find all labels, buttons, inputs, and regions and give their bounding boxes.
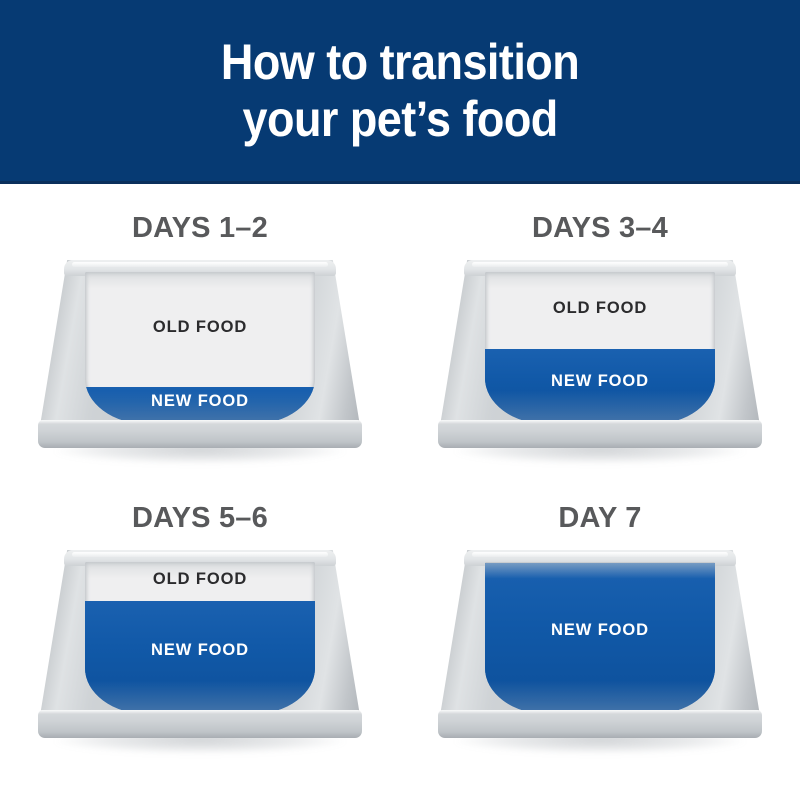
bowl-base	[438, 420, 762, 448]
header-banner: How to transition your pet’s food	[0, 0, 800, 184]
food-bowl-2: OLD FOOD NEW FOOD	[438, 260, 762, 460]
old-food-label-3: OLD FOOD	[85, 570, 315, 589]
transition-step-2: DAYS 3–4 OLD FOOD NEW FOOD	[400, 198, 800, 488]
bowl-base-highlight	[38, 420, 362, 424]
food-bowl-3: OLD FOOD NEW FOOD	[38, 550, 362, 750]
new-food-label-4: NEW FOOD	[485, 621, 715, 640]
bowl-rim-gloss	[72, 552, 328, 557]
step-title-4: DAY 7	[400, 502, 800, 535]
transition-step-4: DAY 7 NEW FOOD	[400, 488, 800, 778]
new-food-label-3: NEW FOOD	[85, 641, 315, 660]
new-food-label-1: NEW FOOD	[85, 392, 315, 411]
bowl-cavity: OLD FOOD NEW FOOD	[85, 272, 315, 424]
bowl-rim-gloss	[472, 552, 728, 557]
bowl-cavity: OLD FOOD NEW FOOD	[85, 562, 315, 714]
page-title-line-2: your pet’s food	[242, 91, 557, 148]
bowl-rim-gloss	[472, 262, 728, 267]
bowl-base	[38, 420, 362, 448]
transition-step-1: DAYS 1–2 OLD FOOD NEW FOOD	[0, 198, 400, 488]
bowl-rim-gloss	[72, 262, 328, 267]
transition-step-3: DAYS 5–6 OLD FOOD NEW FOOD	[0, 488, 400, 778]
step-title-3: DAYS 5–6	[0, 502, 400, 535]
old-food-label-2: OLD FOOD	[485, 299, 715, 318]
bowl-base	[38, 710, 362, 738]
bowl-cavity: NEW FOOD	[485, 562, 715, 714]
step-title-1: DAYS 1–2	[0, 212, 400, 245]
bowl-cavity: OLD FOOD NEW FOOD	[485, 272, 715, 424]
new-food-label-2: NEW FOOD	[485, 372, 715, 391]
food-bowl-4: NEW FOOD	[438, 550, 762, 750]
bowl-base-highlight	[38, 710, 362, 714]
page-title-line-1: How to transition	[221, 34, 579, 91]
food-bowl-1: OLD FOOD NEW FOOD	[38, 260, 362, 460]
step-title-2: DAYS 3–4	[400, 212, 800, 245]
bowl-base-highlight	[438, 420, 762, 424]
transition-steps-grid: DAYS 1–2 OLD FOOD NEW FOOD DAYS 3–4	[0, 184, 800, 800]
old-food-label-1: OLD FOOD	[85, 318, 315, 337]
bowl-base	[438, 710, 762, 738]
bowl-base-highlight	[438, 710, 762, 714]
